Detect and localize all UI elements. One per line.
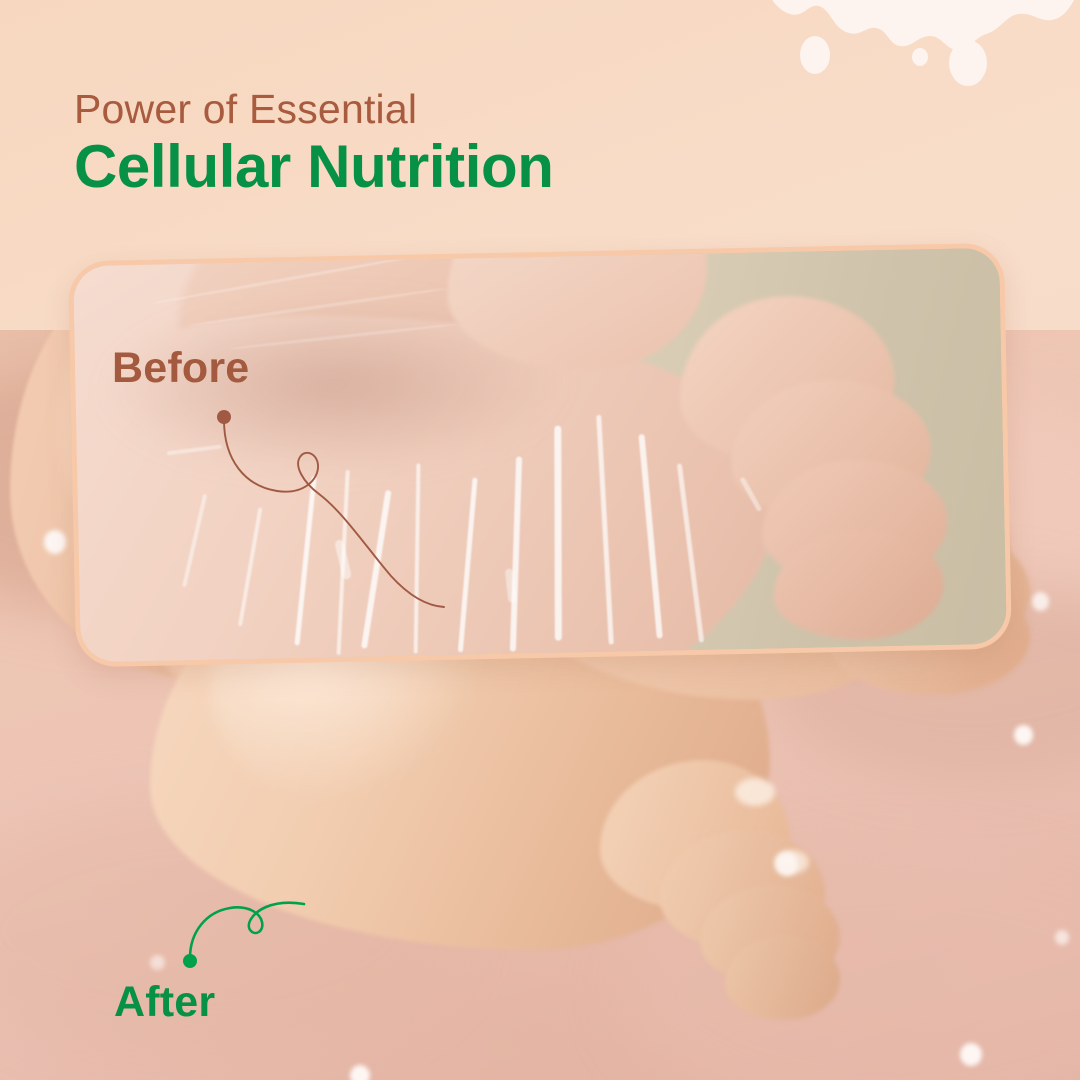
before-photo: [68, 243, 1012, 668]
milk-splash-icon: [760, 0, 1080, 120]
promo-poster: Power of Essential Cellular Nutrition Be…: [0, 0, 1080, 1080]
headline-kicker: Power of Essential: [74, 88, 553, 131]
after-label: After: [114, 978, 215, 1027]
headline-title: Cellular Nutrition: [74, 135, 553, 200]
headline-block: Power of Essential Cellular Nutrition: [74, 88, 553, 200]
before-label: Before: [112, 344, 249, 393]
before-image-panel: [68, 243, 1012, 668]
curly-arrow-swirl-icon: [215, 408, 445, 608]
curly-arrow-swirl-icon: [176, 892, 306, 972]
